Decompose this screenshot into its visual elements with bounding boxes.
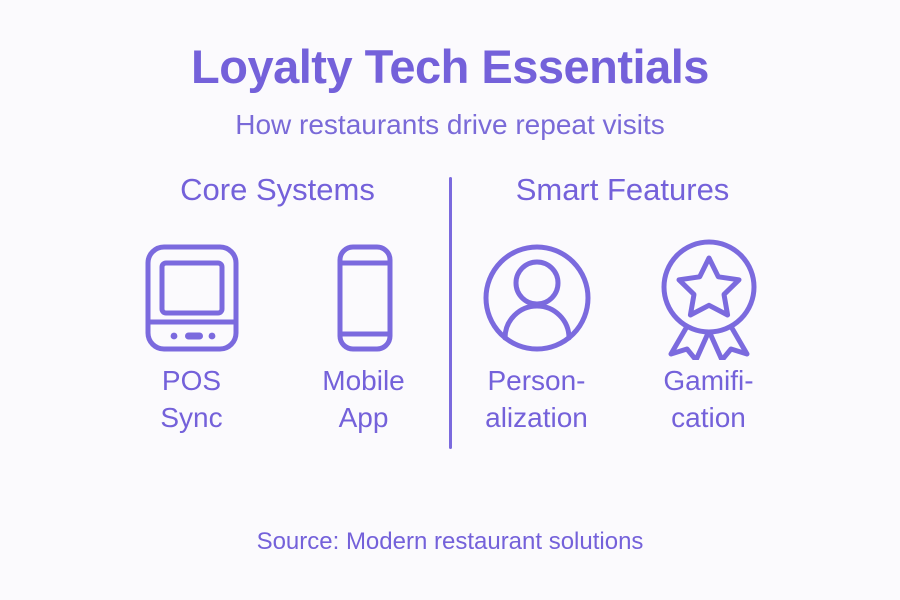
award-badge-icon [654,236,764,360]
item-personalization[interactable]: Person- alization [462,239,612,437]
item-gamification[interactable]: Gamifi- cation [634,239,784,437]
section-heading-core-systems: Core Systems [180,173,375,207]
icon-box [142,239,242,357]
item-label-gamification: Gamifi- cation [663,363,753,437]
icon-box [482,239,592,357]
pos-terminal-icon [142,239,242,357]
page-subtitle: How restaurants drive repeat visits [0,110,900,141]
section-core-systems: Core Systems POS Sync [105,173,450,437]
section-smart-features: Smart Features Person- alization [450,173,795,437]
icon-box [654,239,764,357]
items-core-systems: POS Sync Mobile App [117,239,439,437]
item-label-mobile-app: Mobile App [322,363,404,437]
user-avatar-icon [482,239,592,357]
header: Loyalty Tech Essentials How restaurants … [0,0,900,141]
item-pos-sync[interactable]: POS Sync [117,239,267,437]
item-label-pos-sync: POS Sync [160,363,222,437]
mobile-phone-icon [314,239,414,357]
items-smart-features: Person- alization Gamifi- cation [462,239,784,437]
source-note: Source: Modern restaurant solutions [0,528,900,556]
icon-box [314,239,414,357]
item-mobile-app[interactable]: Mobile App [289,239,439,437]
infographic-canvas: Loyalty Tech Essentials How restaurants … [0,0,900,600]
section-heading-smart-features: Smart Features [516,173,730,207]
section-divider [449,177,452,449]
sections-container: Core Systems POS Sync [0,173,900,437]
page-title: Loyalty Tech Essentials [0,42,900,91]
item-label-personalization: Person- alization [485,363,588,437]
